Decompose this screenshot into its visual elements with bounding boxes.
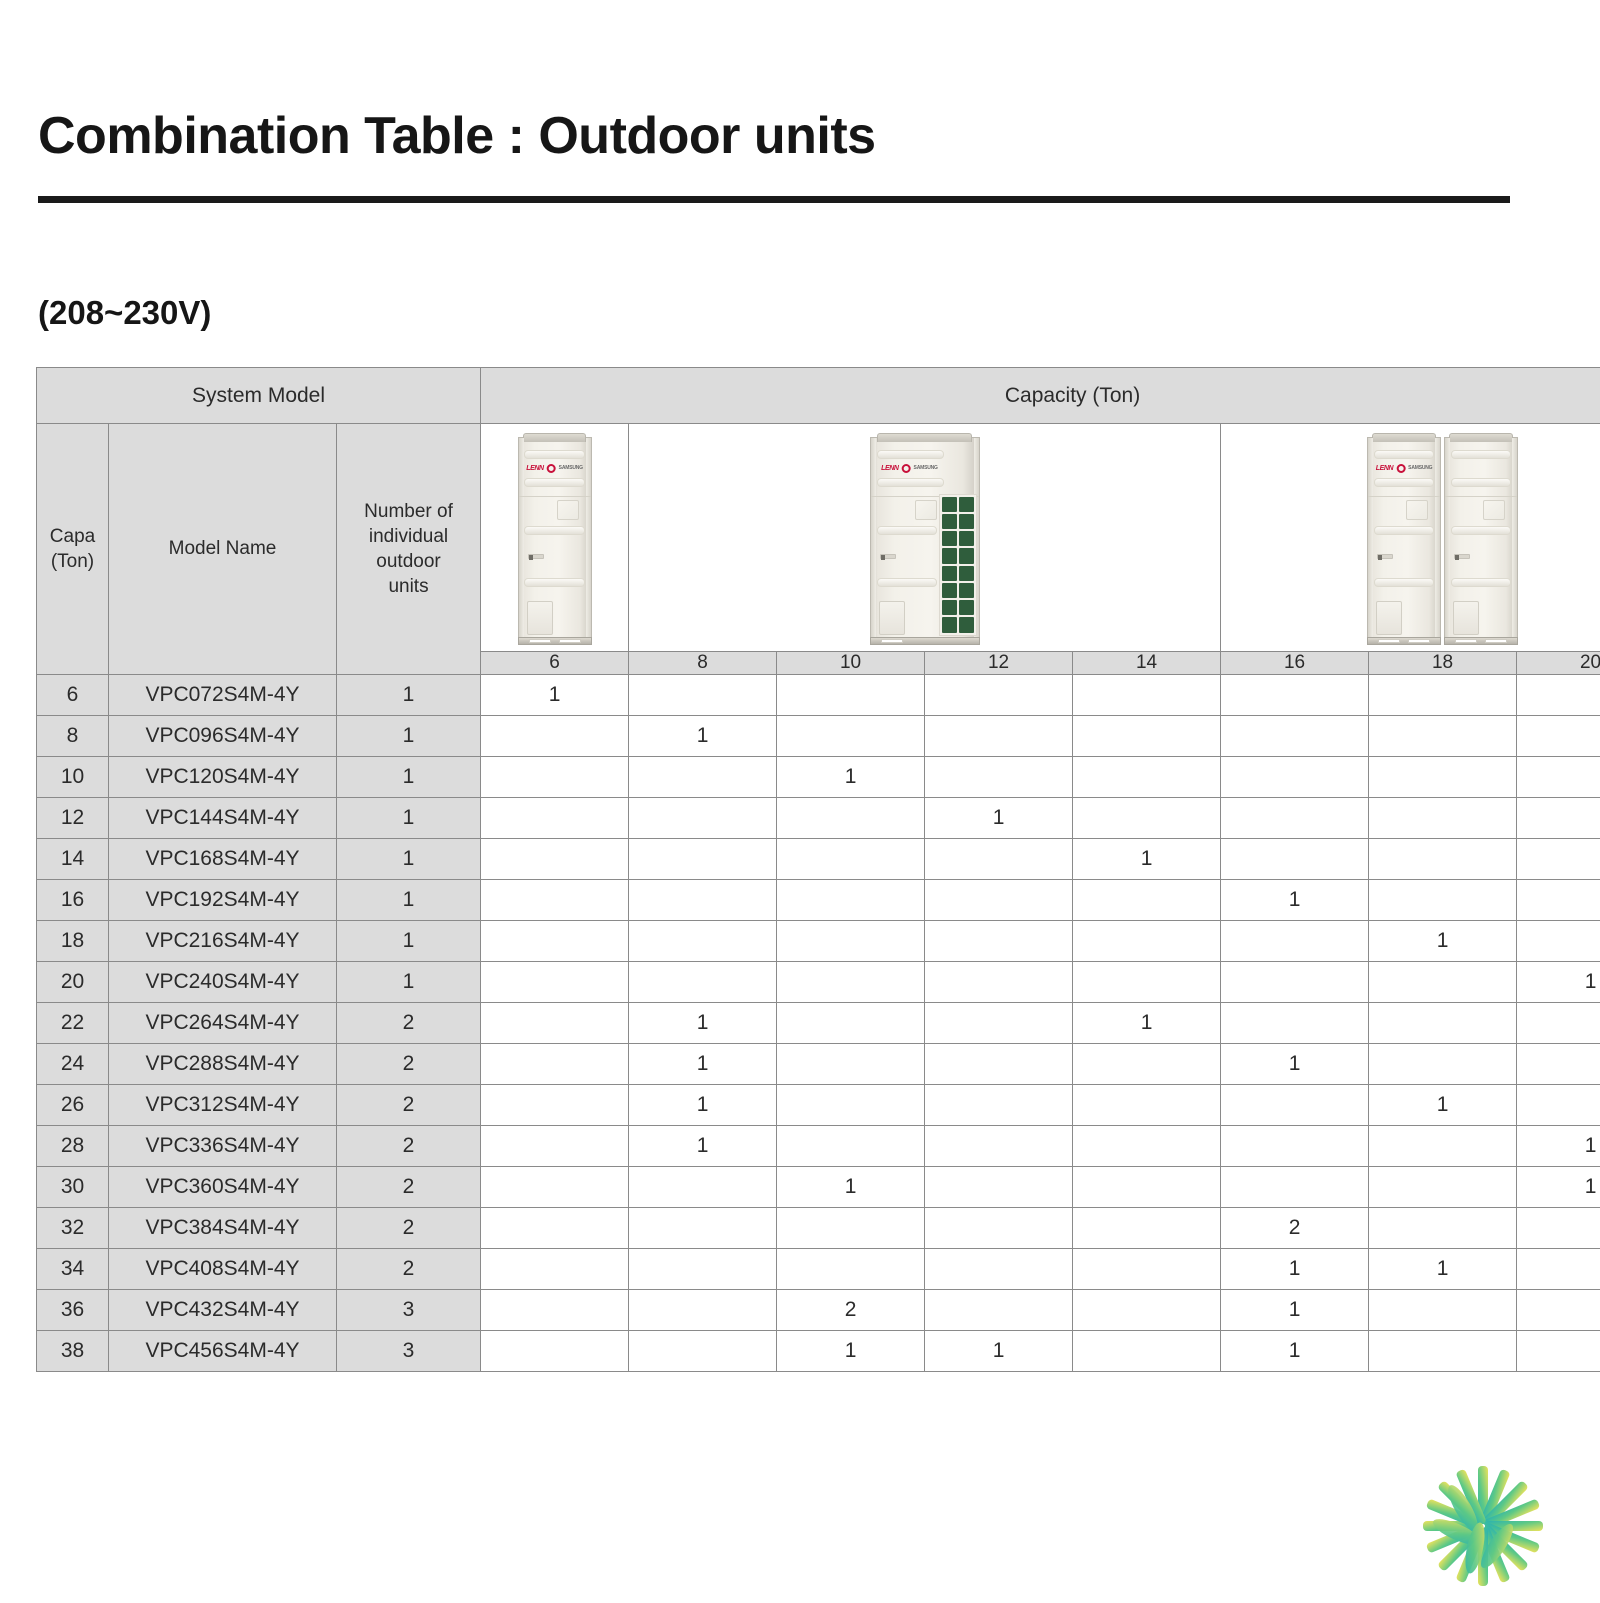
cell-capacity-10: 1 [777,757,925,798]
cell-capacity-12 [925,962,1073,1003]
cell-capacity-12 [925,757,1073,798]
unit-illustration-group: LENNSAMSUNG [481,431,628,645]
cell-capacity-16: 1 [1221,1290,1369,1331]
cell-capacity-20 [1517,798,1600,839]
table-row: 24VPC288S4M-4Y211 [37,1044,1600,1085]
cell-capacity-16 [1221,962,1369,1003]
cell-model-name: VPC288S4M-4Y [109,1044,337,1085]
cell-capacity-18: 1 [1369,921,1517,962]
outdoor-unit-icon: LENNSAMSUNG [870,437,980,645]
cell-capa: 32 [37,1208,109,1249]
cell-capacity-20: 1 [1517,962,1600,1003]
header-system-model: System Model [37,368,481,424]
cell-capacity-8 [629,962,777,1003]
cell-number-of-units: 1 [337,839,481,880]
cell-model-name: VPC216S4M-4Y [109,921,337,962]
cell-capacity-8: 1 [629,1085,777,1126]
cell-capacity-8 [629,839,777,880]
cell-capacity-6 [481,839,629,880]
cell-model-name: VPC192S4M-4Y [109,880,337,921]
cell-capacity-12 [925,1249,1073,1290]
cell-capacity-16 [1221,839,1369,880]
cell-capacity-12 [925,921,1073,962]
cell-capa: 38 [37,1331,109,1372]
cell-capacity-14 [1073,675,1221,716]
cell-capa: 10 [37,757,109,798]
table-body: 6VPC072S4M-4Y118VPC096S4M-4Y1110VPC120S4… [37,675,1600,1372]
capacity-col-12: 12 [925,652,1073,675]
cell-capacity-10 [777,1126,925,1167]
cell-model-name: VPC408S4M-4Y [109,1249,337,1290]
table-row: 12VPC144S4M-4Y11 [37,798,1600,839]
cell-capacity-10 [777,839,925,880]
header-units-line1: Number of [343,499,474,524]
combination-table: System Model Capacity (Ton) Capa (Ton) M… [36,367,1600,1372]
cell-capa: 34 [37,1249,109,1290]
capacity-col-14: 14 [1073,652,1221,675]
cell-model-name: VPC336S4M-4Y [109,1126,337,1167]
cell-capacity-8 [629,1167,777,1208]
cell-capacity-10: 2 [777,1290,925,1331]
table-row: 34VPC408S4M-4Y211 [37,1249,1600,1290]
header-capa-ton: Capa (Ton) [37,424,109,675]
cell-capacity-12 [925,839,1073,880]
table-row: 26VPC312S4M-4Y211 [37,1085,1600,1126]
cell-capa: 14 [37,839,109,880]
lennox-logo: LENNSAMSUNG [1376,464,1433,473]
cell-capacity-20 [1517,1290,1600,1331]
header-capacity: Capacity (Ton) [481,368,1600,424]
cell-model-name: VPC072S4M-4Y [109,675,337,716]
cell-model-name: VPC120S4M-4Y [109,757,337,798]
cell-capacity-20: 1 [1517,1167,1600,1208]
cell-capacity-10 [777,921,925,962]
cell-capacity-20 [1517,839,1600,880]
cell-model-name: VPC168S4M-4Y [109,839,337,880]
cell-capacity-8 [629,1331,777,1372]
cell-model-name: VPC456S4M-4Y [109,1331,337,1372]
cell-capacity-10 [777,1085,925,1126]
cell-number-of-units: 3 [337,1290,481,1331]
cell-number-of-units: 1 [337,880,481,921]
table-row: 8VPC096S4M-4Y11 [37,716,1600,757]
cell-number-of-units: 3 [337,1331,481,1372]
page-root: Combination Table : Outdoor units (208~2… [0,0,1600,1600]
cell-capacity-6 [481,1003,629,1044]
cell-capacity-18 [1369,757,1517,798]
cell-capacity-10 [777,675,925,716]
cell-model-name: VPC144S4M-4Y [109,798,337,839]
cell-capacity-8 [629,675,777,716]
cell-capacity-10 [777,1003,925,1044]
cell-capacity-20 [1517,1208,1600,1249]
header-number-of-units: Number of individual outdoor units [337,424,481,675]
header-capa-line1: Capa [43,524,102,549]
cell-capacity-12 [925,1208,1073,1249]
cell-capacity-14: 1 [1073,839,1221,880]
cell-capacity-12: 1 [925,1331,1073,1372]
cell-capacity-10: 1 [777,1331,925,1372]
cell-model-name: VPC240S4M-4Y [109,962,337,1003]
cell-capacity-18 [1369,1126,1517,1167]
cell-capacity-14 [1073,921,1221,962]
table-row: 16VPC192S4M-4Y11 [37,880,1600,921]
cell-capacity-14: 1 [1073,1003,1221,1044]
cell-capacity-16: 1 [1221,880,1369,921]
title-divider [38,196,1510,203]
cell-number-of-units: 2 [337,1126,481,1167]
cell-capacity-6 [481,1126,629,1167]
cell-capacity-8 [629,1208,777,1249]
cell-capacity-6 [481,962,629,1003]
cell-capacity-16 [1221,1085,1369,1126]
cell-capacity-16 [1221,1167,1369,1208]
cell-capacity-20 [1517,716,1600,757]
header-capa-line2: (Ton) [43,549,102,574]
cell-capacity-10 [777,1249,925,1290]
cell-capacity-6: 1 [481,675,629,716]
heat-exchanger-grille [939,494,977,636]
cell-capacity-18 [1369,798,1517,839]
cell-capacity-12 [925,880,1073,921]
cell-capacity-6 [481,716,629,757]
cell-capacity-12 [925,1126,1073,1167]
table-row: 28VPC336S4M-4Y211 [37,1126,1600,1167]
cell-number-of-units: 2 [337,1167,481,1208]
outdoor-unit-icon [1444,437,1518,645]
cell-capacity-14 [1073,962,1221,1003]
table-row: 14VPC168S4M-4Y11 [37,839,1600,880]
page-title: Combination Table : Outdoor units [38,106,876,166]
cell-capacity-16 [1221,675,1369,716]
cell-capacity-18 [1369,1044,1517,1085]
outdoor-unit-icon: LENNSAMSUNG [1367,437,1441,645]
cell-capacity-14 [1073,798,1221,839]
cell-capacity-20 [1517,1331,1600,1372]
cell-capacity-8 [629,798,777,839]
cell-capacity-16 [1221,921,1369,962]
cell-capacity-12: 1 [925,798,1073,839]
cell-capacity-6 [481,1290,629,1331]
cell-capacity-14 [1073,1249,1221,1290]
cell-capacity-16: 2 [1221,1208,1369,1249]
cell-capacity-18 [1369,675,1517,716]
cell-capacity-8 [629,880,777,921]
cell-capacity-6 [481,757,629,798]
cell-number-of-units: 1 [337,962,481,1003]
header-units-line3: outdoor [343,549,474,574]
cell-capacity-20 [1517,1003,1600,1044]
cell-model-name: VPC384S4M-4Y [109,1208,337,1249]
table-row: 36VPC432S4M-4Y321 [37,1290,1600,1331]
table-row: 10VPC120S4M-4Y11 [37,757,1600,798]
cell-capacity-8 [629,757,777,798]
cell-capacity-6 [481,1044,629,1085]
cell-capa: 6 [37,675,109,716]
cell-capa: 22 [37,1003,109,1044]
cell-capacity-12 [925,1290,1073,1331]
cell-capacity-18 [1369,1290,1517,1331]
cell-capacity-6 [481,1167,629,1208]
cell-capa: 20 [37,962,109,1003]
cell-number-of-units: 2 [337,1249,481,1290]
cell-model-name: VPC360S4M-4Y [109,1167,337,1208]
cell-capacity-14 [1073,1085,1221,1126]
cell-capacity-20 [1517,757,1600,798]
cell-capacity-14 [1073,1290,1221,1331]
cell-capacity-14 [1073,880,1221,921]
capacity-col-10: 10 [777,652,925,675]
cell-capacity-8 [629,1290,777,1331]
capacity-col-6: 6 [481,652,629,675]
cell-capacity-6 [481,798,629,839]
table-row: 30VPC360S4M-4Y211 [37,1167,1600,1208]
cell-capacity-12 [925,1167,1073,1208]
cell-capacity-12 [925,1085,1073,1126]
table-subheader-row: Capa (Ton) Model Name Number of individu… [37,424,1600,652]
table-row: 18VPC216S4M-4Y11 [37,921,1600,962]
cell-number-of-units: 2 [337,1085,481,1126]
cell-capacity-18 [1369,839,1517,880]
table-row: 22VPC264S4M-4Y211 [37,1003,1600,1044]
capacity-col-18: 18 [1369,652,1517,675]
cell-capacity-12 [925,675,1073,716]
cell-capacity-14 [1073,1167,1221,1208]
cell-model-name: VPC312S4M-4Y [109,1085,337,1126]
cell-capa: 30 [37,1167,109,1208]
capacity-col-20: 20 [1517,652,1600,675]
cell-capacity-14 [1073,1331,1221,1372]
cell-capacity-18 [1369,716,1517,757]
cell-capacity-8 [629,1249,777,1290]
cell-capacity-6 [481,1249,629,1290]
cell-capacity-8 [629,921,777,962]
cell-capacity-12 [925,1003,1073,1044]
cell-capacity-16: 1 [1221,1044,1369,1085]
table-row: 20VPC240S4M-4Y11 [37,962,1600,1003]
cell-capacity-8: 1 [629,1126,777,1167]
cell-capacity-18 [1369,1331,1517,1372]
cell-capacity-8: 1 [629,1044,777,1085]
cell-capacity-12 [925,1044,1073,1085]
cell-capacity-6 [481,1085,629,1126]
cell-capa: 8 [37,716,109,757]
cell-capacity-10 [777,880,925,921]
cell-capacity-16 [1221,1003,1369,1044]
cell-capacity-18 [1369,1003,1517,1044]
cell-capacity-20 [1517,1085,1600,1126]
cell-capacity-14 [1073,757,1221,798]
outdoor-unit-image-with-grille: LENNSAMSUNG [629,424,1221,652]
cell-capacity-18 [1369,962,1517,1003]
cell-capacity-14 [1073,716,1221,757]
cell-capacity-16: 1 [1221,1249,1369,1290]
cell-capacity-20 [1517,880,1600,921]
cell-capacity-20 [1517,1044,1600,1085]
cell-capacity-6 [481,921,629,962]
cell-capacity-8: 1 [629,716,777,757]
cell-capacity-20 [1517,675,1600,716]
cell-capacity-8: 1 [629,1003,777,1044]
cell-capa: 36 [37,1290,109,1331]
cell-capa: 24 [37,1044,109,1085]
cell-number-of-units: 2 [337,1208,481,1249]
cell-capacity-10 [777,962,925,1003]
cell-capacity-16 [1221,716,1369,757]
cell-capacity-10 [777,1208,925,1249]
cell-capacity-10 [777,716,925,757]
lennox-logo: LENNSAMSUNG [526,464,583,473]
cell-capacity-14 [1073,1208,1221,1249]
outdoor-unit-icon: LENNSAMSUNG [518,437,592,645]
cell-capacity-6 [481,1331,629,1372]
header-units-line2: individual [343,524,474,549]
cell-capa: 12 [37,798,109,839]
capacity-col-16: 16 [1221,652,1369,675]
outdoor-unit-image-dual: LENNSAMSUNG [1221,424,1600,652]
cell-number-of-units: 2 [337,1044,481,1085]
cell-capacity-20 [1517,921,1600,962]
cell-capa: 26 [37,1085,109,1126]
unit-illustration-group: LENNSAMSUNG [1221,431,1600,645]
lennox-logo: LENNSAMSUNG [881,464,938,473]
cell-number-of-units: 1 [337,921,481,962]
cell-capacity-16 [1221,1126,1369,1167]
cell-number-of-units: 2 [337,1003,481,1044]
cell-number-of-units: 1 [337,675,481,716]
cell-model-name: VPC096S4M-4Y [109,716,337,757]
starburst-brand-mark [1408,1448,1558,1593]
cell-capacity-20 [1517,1249,1600,1290]
cell-capacity-16 [1221,757,1369,798]
header-model-name: Model Name [109,424,337,675]
table-group-header-row: System Model Capacity (Ton) [37,368,1600,424]
cell-model-name: VPC432S4M-4Y [109,1290,337,1331]
unit-illustration-group: LENNSAMSUNG [629,431,1220,645]
cell-capacity-14 [1073,1126,1221,1167]
cell-capacity-18 [1369,1167,1517,1208]
capacity-col-8: 8 [629,652,777,675]
cell-capacity-18 [1369,1208,1517,1249]
cell-capacity-10: 1 [777,1167,925,1208]
cell-capa: 16 [37,880,109,921]
cell-capacity-16 [1221,798,1369,839]
header-units-line4: units [343,574,474,599]
cell-capacity-6 [481,1208,629,1249]
cell-capacity-18: 1 [1369,1249,1517,1290]
table-row: 32VPC384S4M-4Y22 [37,1208,1600,1249]
cell-capacity-12 [925,716,1073,757]
cell-number-of-units: 1 [337,757,481,798]
cell-capacity-6 [481,880,629,921]
cell-number-of-units: 1 [337,798,481,839]
table-row: 6VPC072S4M-4Y11 [37,675,1600,716]
cell-model-name: VPC264S4M-4Y [109,1003,337,1044]
cell-capacity-20: 1 [1517,1126,1600,1167]
outdoor-unit-image-single: LENNSAMSUNG [481,424,629,652]
cell-capa: 28 [37,1126,109,1167]
cell-capacity-10 [777,798,925,839]
voltage-subtitle: (208~230V) [38,294,211,332]
cell-capa: 18 [37,921,109,962]
cell-capacity-18 [1369,880,1517,921]
cell-capacity-14 [1073,1044,1221,1085]
cell-capacity-18: 1 [1369,1085,1517,1126]
cell-number-of-units: 1 [337,716,481,757]
table-row: 38VPC456S4M-4Y3111 [37,1331,1600,1372]
cell-capacity-16: 1 [1221,1331,1369,1372]
cell-capacity-10 [777,1044,925,1085]
